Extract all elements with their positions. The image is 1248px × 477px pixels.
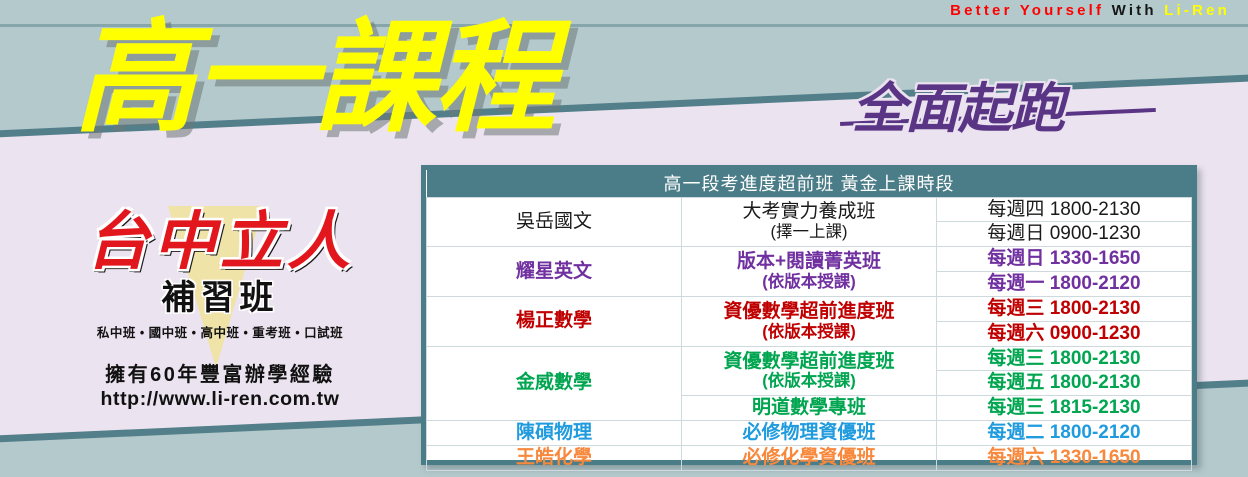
- time-cell: 每週三 1800-2130: [937, 346, 1192, 371]
- schedule-header-title: 高一段考進度超前班 黃金上課時段: [427, 170, 1192, 197]
- course-cell: 資優數學超前進度班 (依版本授課): [682, 346, 937, 396]
- course-cell: 大考實力養成班 (擇一上課): [682, 197, 937, 247]
- course-sub-label: (依版本授課): [686, 273, 932, 292]
- time-cell: 每週日 1330-1650: [937, 247, 1192, 272]
- course-cell: 版本+閱讀菁英班 (依版本授課): [682, 247, 937, 297]
- teacher-cell: 耀星英文: [427, 247, 682, 297]
- course-main-label: 資優數學超前進度班: [723, 351, 894, 372]
- table-row: 陳碩物理 必修物理資優班 每週二 1800-2120: [427, 421, 1192, 446]
- course-sub-label: (依版本授課): [686, 323, 932, 342]
- table-row: 王皓化學 必修化學資優班 每週六 1330-1650: [427, 445, 1192, 470]
- course-sub-label: (依版本授課): [686, 372, 932, 391]
- table-row: 金威數學 資優數學超前進度班 (依版本授課) 每週三 1800-2130: [427, 346, 1192, 371]
- page-title: 高一課程: [74, 16, 554, 138]
- course-main-label: 資優數學超前進度班: [723, 301, 894, 322]
- brand-logo: 台中立人 補習班 私中班 • 國中班 • 高中班 • 重考班 • 口試班 擁有6…: [40, 200, 400, 415]
- time-cell: 每週一 1800-2120: [937, 272, 1192, 297]
- tagline-part-better: Better Yourself: [950, 2, 1112, 19]
- logo-experience: 擁有60年豐富辦學經驗: [40, 358, 400, 387]
- schedule-table-container: 高一段考進度超前班 黃金上課時段 吳岳國文 大考實力養成班 (擇一上課) 每週四…: [421, 165, 1197, 465]
- teacher-cell: 陳碩物理: [427, 421, 682, 446]
- course-main-label: 大考實力養成班: [742, 201, 875, 222]
- course-cell: 必修化學資優班: [682, 445, 937, 470]
- course-main-label: 版本+閱讀菁英班: [737, 251, 881, 272]
- course-cell: 資優數學超前進度班 (依版本授課): [682, 296, 937, 346]
- page-subtitle: 全面起跑: [852, 64, 1064, 143]
- time-cell: 每週六 1330-1650: [937, 445, 1192, 470]
- course-sub-label: (擇一上課): [686, 223, 932, 242]
- logo-website-url[interactable]: http://www.li-ren.com.tw: [40, 388, 400, 411]
- time-cell: 每週日 0900-1230: [937, 222, 1192, 247]
- teacher-cell: 王皓化學: [427, 445, 682, 470]
- poster-canvas: Better Yourself With Li-Ren 高一課程 全面起跑 台中…: [0, 0, 1248, 477]
- time-cell: 每週五 1800-2130: [937, 371, 1192, 396]
- logo-class-list: 私中班 • 國中班 • 高中班 • 重考班 • 口試班: [40, 322, 400, 341]
- time-cell: 每週三 1800-2130: [937, 296, 1192, 321]
- time-cell: 每週四 1800-2130: [937, 197, 1192, 222]
- table-row: 吳岳國文 大考實力養成班 (擇一上課) 每週四 1800-2130: [427, 197, 1192, 222]
- course-cell: 必修物理資優班: [682, 421, 937, 446]
- schedule-table-body: 吳岳國文 大考實力養成班 (擇一上課) 每週四 1800-2130 每週日 09…: [427, 197, 1192, 470]
- tagline-part-with: With: [1112, 2, 1165, 19]
- table-header-row: 高一段考進度超前班 黃金上課時段: [427, 170, 1192, 197]
- time-cell: 每週六 0900-1230: [937, 321, 1192, 346]
- teacher-cell: 金威數學: [427, 346, 682, 421]
- time-cell: 每週三 1815-2130: [937, 396, 1192, 421]
- teacher-cell: 楊正數學: [427, 296, 682, 346]
- schedule-table-head: 高一段考進度超前班 黃金上課時段: [427, 170, 1192, 197]
- schedule-table: 高一段考進度超前班 黃金上課時段 吳岳國文 大考實力養成班 (擇一上課) 每週四…: [426, 170, 1192, 471]
- time-cell: 每週二 1800-2120: [937, 421, 1192, 446]
- tagline-part-brand: Li-Ren: [1164, 2, 1230, 19]
- table-row: 耀星英文 版本+閱讀菁英班 (依版本授課) 每週日 1330-1650: [427, 247, 1192, 272]
- table-row: 楊正數學 資優數學超前進度班 (依版本授課) 每週三 1800-2130: [427, 296, 1192, 321]
- logo-name: 台中立人: [40, 200, 400, 274]
- teacher-cell: 吳岳國文: [427, 197, 682, 247]
- logo-type: 補習班: [40, 270, 400, 319]
- course-cell: 明道數學專班: [682, 396, 937, 421]
